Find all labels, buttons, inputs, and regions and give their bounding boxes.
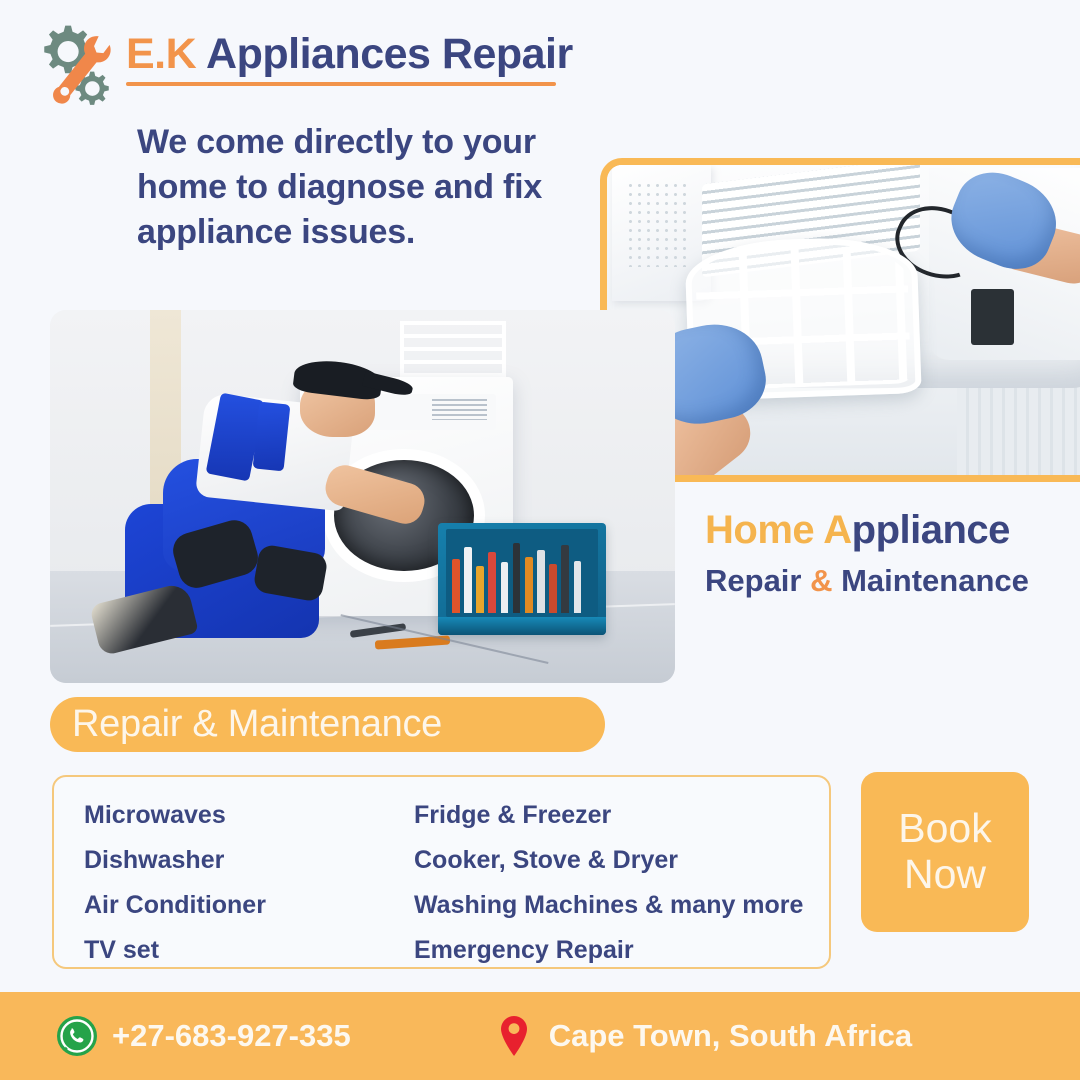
tool-item	[488, 552, 496, 613]
tool-item	[464, 547, 472, 613]
location-contact[interactable]: Cape Town, South Africa	[493, 1015, 912, 1057]
headline-block: Home Appliance Repair & Maintenance	[705, 508, 1065, 599]
gears-wrench-icon	[22, 18, 120, 110]
brand-underline	[126, 82, 556, 86]
brand-header: E.K Appliances Repair	[22, 18, 573, 110]
brand-text-block: E.K Appliances Repair	[126, 18, 573, 86]
location-pin-icon	[493, 1015, 535, 1057]
tool-item	[549, 564, 557, 613]
washing-machine-repair-image	[50, 310, 675, 683]
book-now-line-2: Now	[904, 852, 986, 898]
brand-name-accent: E.K	[126, 30, 196, 78]
headline-line-2: Repair & Maintenance	[705, 563, 1065, 599]
headline-rest: ppliance	[852, 508, 1010, 552]
tool-item	[452, 559, 460, 613]
headline-maintenance: Maintenance	[833, 563, 1029, 598]
poster-canvas: E.K Appliances Repair We come directly t…	[0, 0, 1080, 1080]
phone-contact[interactable]: +27-683-927-335	[56, 1015, 351, 1057]
brand-name-rest: Appliances Repair	[196, 30, 573, 78]
service-item: Dishwasher	[84, 838, 414, 883]
headline-accent: Home A	[705, 508, 852, 552]
section-badge: Repair & Maintenance	[50, 697, 605, 752]
tool-item	[476, 566, 484, 613]
headline-ampersand: &	[810, 563, 832, 598]
tool-item	[561, 545, 569, 613]
tool-item	[513, 543, 521, 613]
location-text: Cape Town, South Africa	[549, 1018, 912, 1054]
service-item: Washing Machines & many more	[414, 883, 829, 928]
tool-item	[574, 561, 582, 613]
page-title: E.K Appliances Repair	[126, 32, 573, 77]
book-now-button[interactable]: Book Now	[861, 772, 1029, 932]
service-item: TV set	[84, 928, 414, 973]
headline-line-1: Home Appliance	[705, 508, 1065, 553]
service-item: Fridge & Freezer	[414, 793, 829, 838]
ac-photo-content	[607, 165, 1080, 475]
toolbox-tray	[446, 529, 598, 616]
toolbox-lid	[438, 617, 607, 635]
phone-number: +27-683-927-335	[112, 1018, 351, 1054]
tool-item	[501, 562, 509, 613]
service-item: Microwaves	[84, 793, 414, 838]
whatsapp-icon	[56, 1015, 98, 1057]
services-list-box: Microwaves Fridge & Freezer Dishwasher C…	[52, 775, 831, 969]
tool-item	[525, 557, 533, 613]
badge-label: Repair & Maintenance	[72, 703, 442, 746]
washer-indicator-lights	[432, 399, 487, 420]
ac-black-vent	[971, 289, 1014, 345]
book-now-line-1: Book	[898, 806, 991, 852]
tool-item	[537, 550, 545, 613]
ac-vent-dots	[626, 181, 692, 268]
tagline-text: We come directly to your home to diagnos…	[137, 120, 557, 255]
service-item: Cooker, Stove & Dryer	[414, 838, 829, 883]
contact-footer-bar: +27-683-927-335 Cape Town, South Africa	[0, 992, 1080, 1080]
toolbox	[438, 523, 607, 635]
service-item: Air Conditioner	[84, 883, 414, 928]
service-item: Emergency Repair	[414, 928, 829, 973]
headline-repair: Repair	[705, 563, 810, 598]
